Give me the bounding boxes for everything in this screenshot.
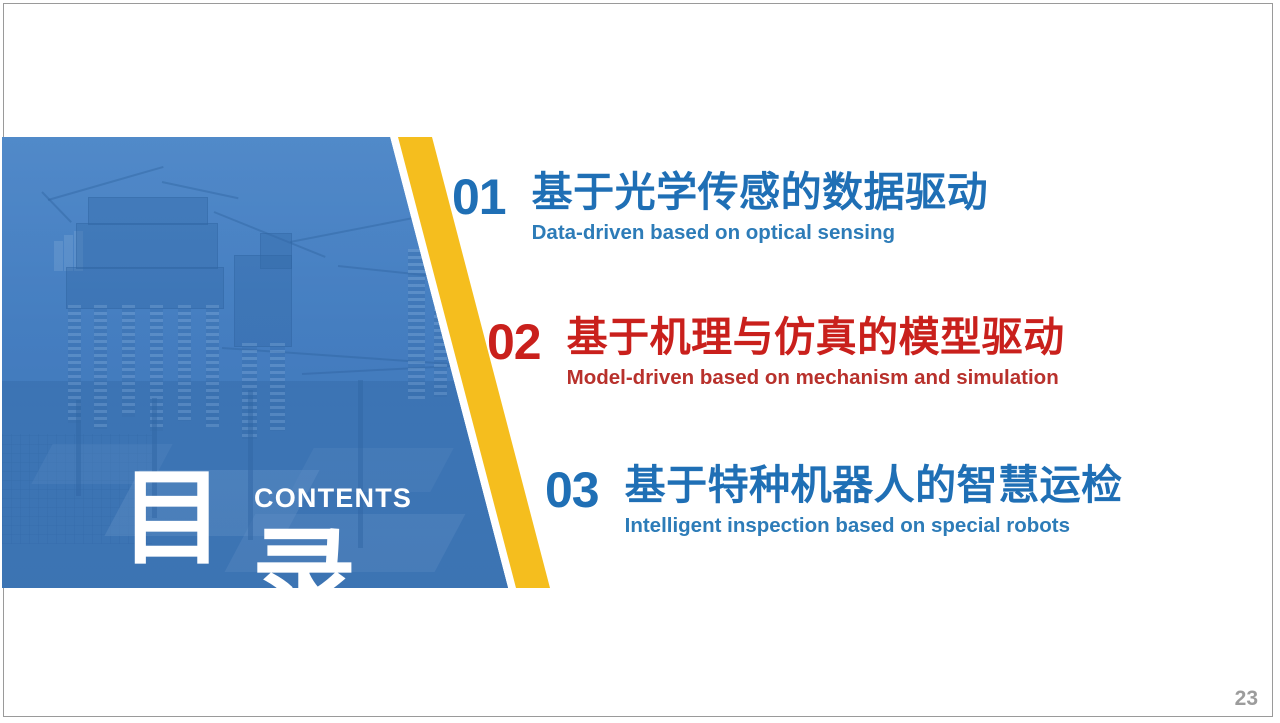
presentation-slide: 目 CONTENTS 录 01 基于光学传感的数据驱动 Data-driven … [0, 0, 1280, 723]
toc-entry-03[interactable]: 03 基于特种机器人的智慧运检 Intelligent inspection b… [545, 463, 1280, 546]
toc-text-block-03: 基于特种机器人的智慧运检 Intelligent inspection base… [625, 463, 1280, 546]
table-of-contents: 01 基于光学传感的数据驱动 Data-driven based on opti… [0, 0, 1280, 723]
toc-title-03: 基于特种机器人的智慧运检 [625, 462, 1123, 508]
toc-subtitle-03: Intelligent inspection based on special … [625, 514, 1070, 546]
toc-entry-02[interactable]: 02 基于机理与仿真的模型驱动 Model-driven based on me… [487, 315, 1280, 398]
toc-title-01: 基于光学传感的数据驱动 [532, 169, 989, 215]
toc-number-02: 02 [487, 317, 541, 367]
toc-subtitle-02: Model-driven based on mechanism and simu… [567, 366, 1059, 398]
toc-entry-01[interactable]: 01 基于光学传感的数据驱动 Data-driven based on opti… [452, 170, 1280, 253]
page-number: 23 [1235, 687, 1258, 711]
toc-number-03: 03 [545, 465, 599, 515]
toc-text-block-01: 基于光学传感的数据驱动 Data-driven based on optical… [532, 170, 1280, 253]
toc-text-block-02: 基于机理与仿真的模型驱动 Model-driven based on mecha… [567, 315, 1280, 398]
toc-number-01: 01 [452, 172, 506, 222]
toc-subtitle-01: Data-driven based on optical sensing [532, 221, 895, 253]
toc-title-02: 基于机理与仿真的模型驱动 [567, 314, 1065, 360]
